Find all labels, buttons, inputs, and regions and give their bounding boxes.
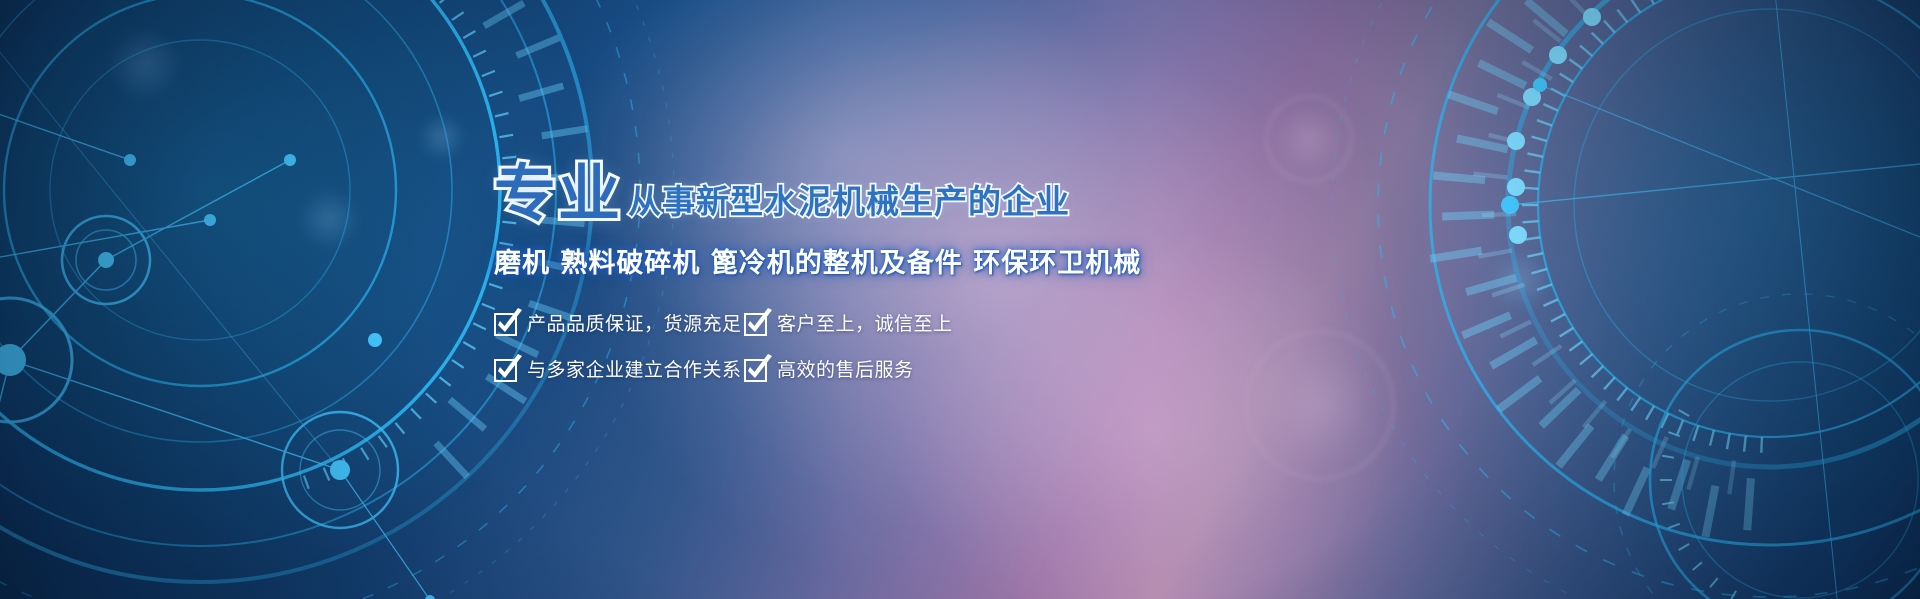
checkbox-checked-icon <box>494 359 517 382</box>
feature-label: 客户至上，诚信至上 <box>777 312 953 336</box>
feature-label: 产品品质保证，货源充足 <box>527 312 742 336</box>
feature-list: 产品品质保证，货源充足 客户至上，诚信至上 与多家企业建立合作关系 <box>494 312 964 382</box>
feature-item: 客户至上，诚信至上 <box>744 312 964 336</box>
headline-emphasis: 专业 <box>494 162 622 226</box>
banner-content: 专业 从事新型水泥机械生产的企业 磨机 熟料破碎机 篦冷机的整机及备件 环保环卫… <box>494 152 1194 382</box>
hero-banner: 专业 从事新型水泥机械生产的企业 磨机 熟料破碎机 篦冷机的整机及备件 环保环卫… <box>0 0 1920 599</box>
product-subtitle: 磨机 熟料破碎机 篦冷机的整机及备件 环保环卫机械 <box>494 246 1194 282</box>
headline-rest: 从事新型水泥机械生产的企业 <box>628 182 1070 226</box>
feature-item: 高效的售后服务 <box>744 358 964 382</box>
feature-label: 与多家企业建立合作关系 <box>527 358 742 382</box>
checkbox-checked-icon <box>744 313 767 336</box>
feature-item: 产品品质保证，货源充足 <box>494 312 744 336</box>
feature-item: 与多家企业建立合作关系 <box>494 358 744 382</box>
checkbox-checked-icon <box>494 313 517 336</box>
headline: 专业 从事新型水泥机械生产的企业 <box>494 152 1194 226</box>
checkbox-checked-icon <box>744 359 767 382</box>
feature-label: 高效的售后服务 <box>777 358 914 382</box>
